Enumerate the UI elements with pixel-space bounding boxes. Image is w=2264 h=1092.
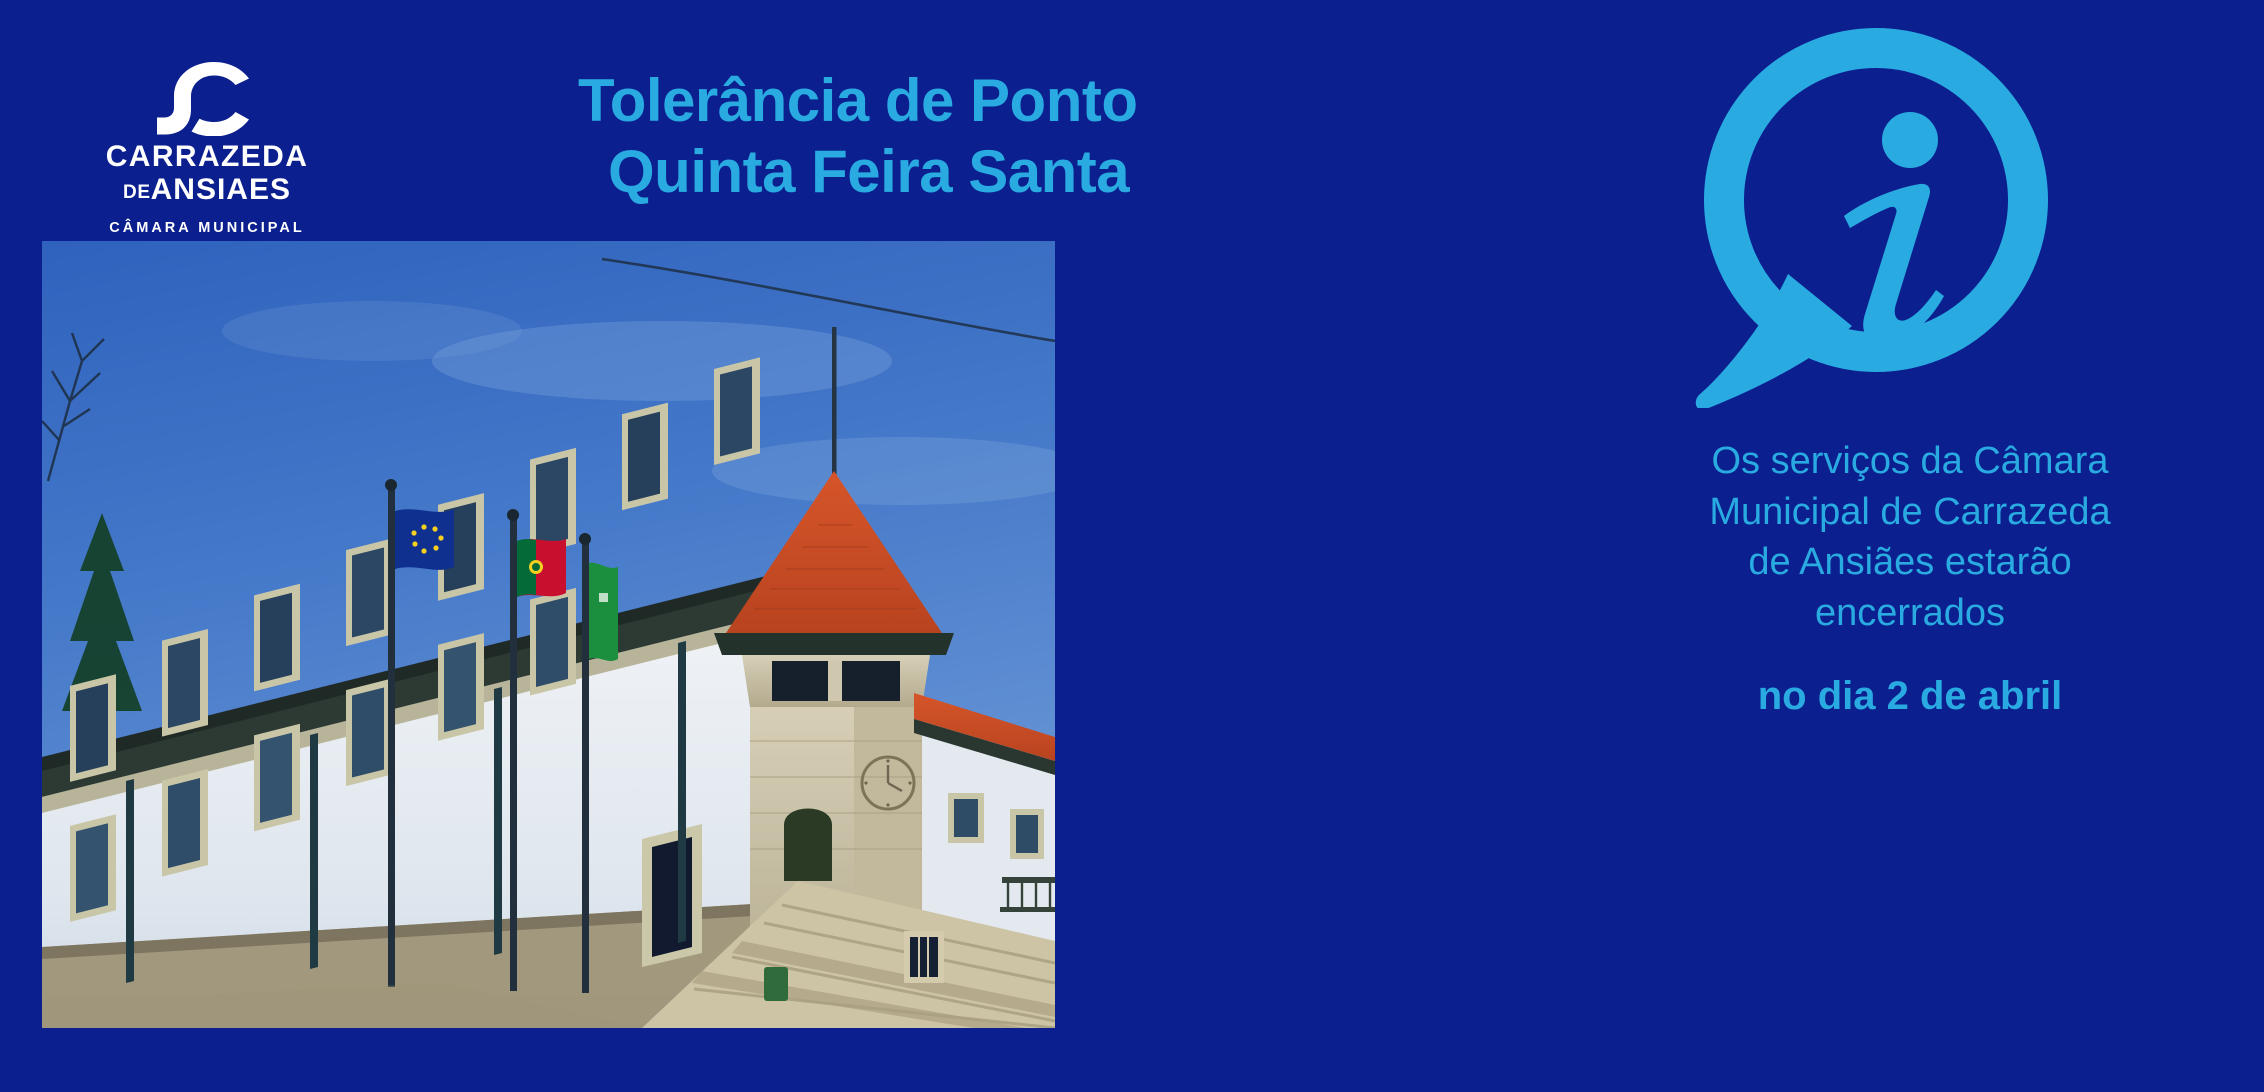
municipality-logo: CARRAZEDA DEANSIAES CÂMARA MUNICIPAL — [72, 62, 342, 236]
info-bubble-shape — [1648, 18, 2058, 408]
notice-line-2: Municipal de Carrazeda — [1620, 487, 2200, 538]
logo-name-prefix: DE — [123, 182, 151, 203]
logo-name-line1: CARRAZEDA — [72, 142, 342, 173]
logo-name-main: ANSIAES — [151, 173, 291, 206]
notice-line-1: Os serviços da Câmara — [1620, 436, 2200, 487]
logo-subtitle: CÂMARA MUNICIPAL — [72, 220, 342, 236]
carrazeda-c-monogram-icon — [157, 62, 257, 136]
poster-canvas: CARRAZEDA DEANSIAES CÂMARA MUNICIPAL Tol… — [0, 0, 2264, 1092]
page-title: Tolerância de Ponto Quinta Feira Santa — [560, 66, 1520, 208]
notice-line-4: encerrados — [1620, 588, 2200, 639]
notice-line-3: de Ansiães estarão — [1620, 537, 2200, 588]
logo-name-line2: DEANSIAES — [72, 173, 342, 207]
title-line-1: Tolerância de Ponto — [560, 66, 1520, 137]
info-speech-bubble-icon — [1648, 18, 2058, 408]
town-hall-photo — [42, 241, 1055, 1028]
closure-notice: Os serviços da Câmara Municipal de Carra… — [1620, 436, 2200, 719]
town-hall-illustration — [42, 241, 1055, 1028]
notice-date: no dia 2 de abril — [1620, 674, 2200, 719]
title-line-2: Quinta Feira Santa — [560, 137, 1520, 208]
